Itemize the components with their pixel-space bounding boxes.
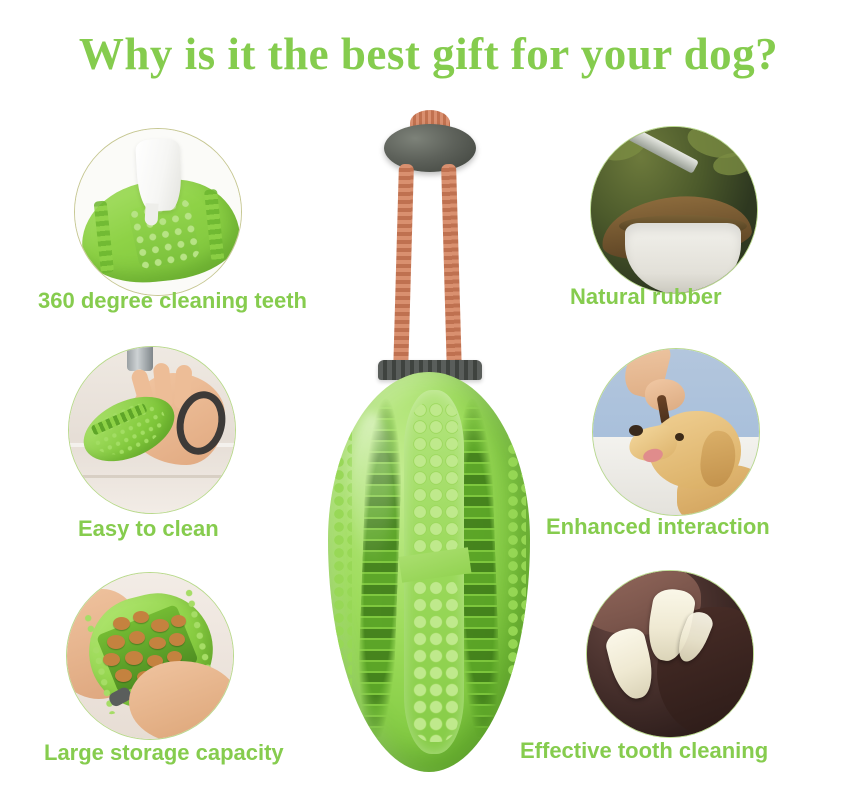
feature-effective-tooth-cleaning [586,570,754,738]
product-image [322,108,536,788]
rope-strand-right [441,164,462,374]
toy-spikes-right [506,404,526,740]
toy-highlight [350,412,394,562]
caption-effective-tooth-cleaning: Effective tooth cleaning [520,740,768,762]
model-tooth [135,138,183,212]
rope-strand-left [393,164,414,374]
toy-nubs-upper [412,402,458,554]
feature-easy-to-clean [68,346,236,514]
feature-enhanced-interaction [592,348,760,516]
feature-image-natural-rubber [590,126,758,294]
caption-cleaning-teeth: 360 degree cleaning teeth [38,290,307,312]
caption-easy-to-clean: Easy to clean [78,518,219,540]
toy-nubs-lower [412,580,458,742]
feature-image-easy-to-clean [68,346,236,514]
feature-image-cleaning-teeth [74,128,242,296]
caption-enhanced-interaction: Enhanced interaction [546,516,770,538]
dog-eye [675,433,684,441]
toy-spikes-left [332,404,352,740]
rope-stopper-bead [384,124,476,172]
faucet-icon [127,346,153,371]
hand-bottom [129,661,234,740]
dog-nose [629,425,643,436]
caption-storage-capacity: Large storage capacity [44,742,284,764]
toy-body [328,372,530,772]
infographic-page: Why is it the best gift for your dog? [0,0,857,800]
feature-image-storage-capacity [66,572,234,740]
feature-image-effective-tooth-cleaning [586,570,754,738]
caption-natural-rubber: Natural rubber [570,286,722,308]
page-title: Why is it the best gift for your dog? [0,28,857,80]
feature-cleaning-teeth [74,128,242,296]
feature-natural-rubber [590,126,758,294]
feature-storage-capacity [66,572,234,740]
feature-image-enhanced-interaction [592,348,760,516]
